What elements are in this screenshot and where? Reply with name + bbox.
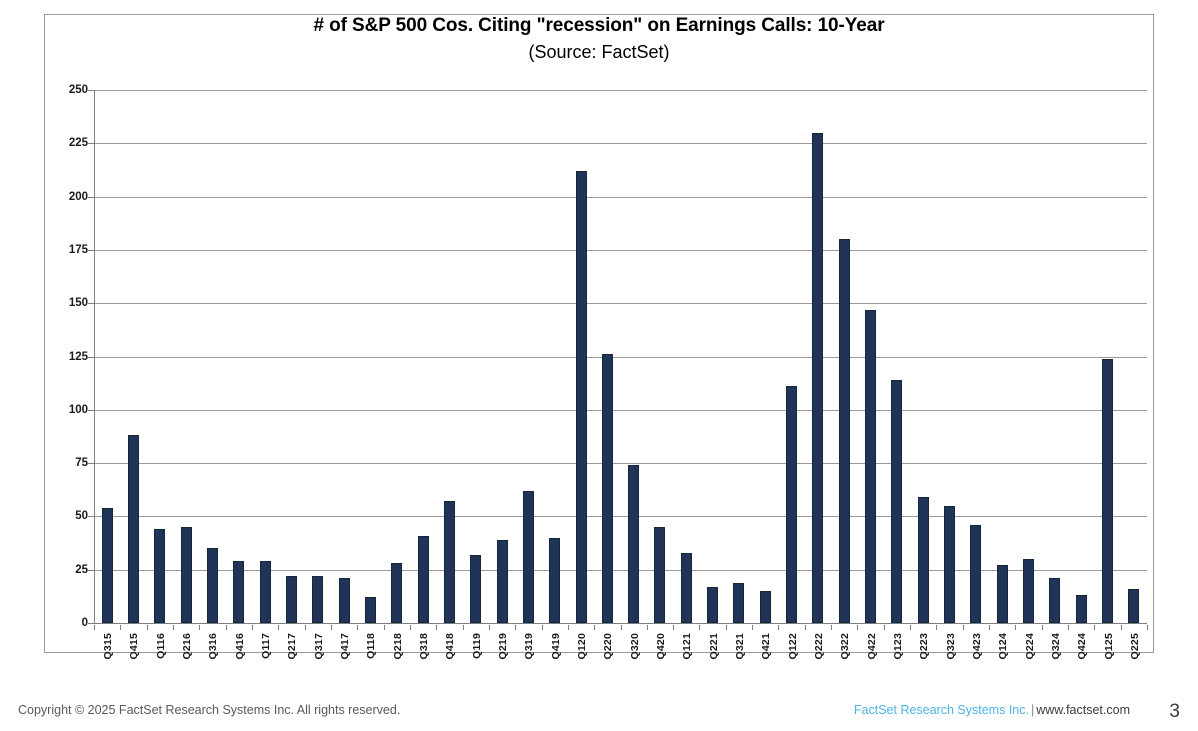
x-axis-tick-label: Q324 xyxy=(1050,633,1062,660)
x-axis-tick-label: Q122 xyxy=(787,633,799,660)
bar xyxy=(891,380,902,623)
bars-layer xyxy=(94,90,1147,623)
x-axis-tick-label: Q218 xyxy=(392,633,404,660)
y-axis-tick-label: 50 xyxy=(42,510,88,522)
y-axis-tick-mark xyxy=(88,463,94,464)
x-axis-tick-mark xyxy=(1015,625,1016,630)
y-axis-tick-mark xyxy=(88,623,94,624)
bar xyxy=(339,578,350,623)
x-axis-tick-label: Q223 xyxy=(918,633,930,660)
y-axis-tick-label: 175 xyxy=(42,244,88,256)
x-axis-tick-mark xyxy=(1068,625,1069,630)
y-axis-tick-label: 100 xyxy=(42,404,88,416)
bar xyxy=(681,553,692,623)
x-axis-tick-label: Q419 xyxy=(550,633,562,660)
x-axis-tick-labels: Q315Q415Q116Q216Q316Q416Q117Q217Q317Q417… xyxy=(94,625,1147,665)
x-axis-tick-mark xyxy=(726,625,727,630)
x-axis-tick-mark xyxy=(647,625,648,630)
bar xyxy=(444,501,455,623)
bar xyxy=(1076,595,1087,623)
bar xyxy=(839,239,850,623)
x-axis-tick-mark xyxy=(1121,625,1122,630)
bar xyxy=(286,576,297,623)
bar xyxy=(497,540,508,623)
bar xyxy=(997,565,1008,623)
bar xyxy=(128,435,139,623)
y-axis-tick-labels: 0255075100125150175200225250 xyxy=(38,90,88,623)
bar xyxy=(154,529,165,623)
y-axis-tick-label: 150 xyxy=(42,297,88,309)
x-axis-tick-label: Q423 xyxy=(971,633,983,660)
footer-attribution: FactSet Research Systems Inc.|www.factse… xyxy=(854,703,1130,717)
x-axis-tick-label: Q418 xyxy=(444,633,456,660)
page-number: 3 xyxy=(1169,701,1180,723)
x-axis-tick-mark xyxy=(621,625,622,630)
x-axis-tick-mark xyxy=(1042,625,1043,630)
x-axis-tick-mark xyxy=(778,625,779,630)
x-axis-tick-label: Q323 xyxy=(945,633,957,660)
x-axis-tick-label: Q222 xyxy=(813,633,825,660)
x-axis-tick-mark xyxy=(120,625,121,630)
x-axis-tick-mark xyxy=(594,625,595,630)
footer-separator: | xyxy=(1031,703,1034,717)
bar xyxy=(523,491,534,623)
bar xyxy=(207,548,218,623)
x-axis-tick-label: Q421 xyxy=(760,633,772,660)
y-axis-tick-label: 125 xyxy=(42,351,88,363)
bar xyxy=(707,587,718,623)
bar xyxy=(760,591,771,623)
x-axis-tick-mark xyxy=(463,625,464,630)
x-axis-tick-label: Q125 xyxy=(1103,633,1115,660)
x-axis-tick-label: Q123 xyxy=(892,633,904,660)
factset-website: www.factset.com xyxy=(1036,703,1130,717)
x-axis-tick-mark xyxy=(199,625,200,630)
x-axis-tick-label: Q415 xyxy=(128,633,140,660)
y-axis-tick-mark xyxy=(88,410,94,411)
x-axis-tick-mark xyxy=(699,625,700,630)
x-axis-tick-mark xyxy=(489,625,490,630)
x-axis-tick-mark xyxy=(963,625,964,630)
bar xyxy=(549,538,560,623)
bar xyxy=(918,497,929,623)
x-axis-tick-label: Q316 xyxy=(207,633,219,660)
y-axis-tick-mark xyxy=(88,143,94,144)
x-axis-tick-label: Q217 xyxy=(286,633,298,660)
x-axis-tick-mark xyxy=(1094,625,1095,630)
y-axis-tick-mark xyxy=(88,303,94,304)
x-axis-tick-mark xyxy=(752,625,753,630)
x-axis-line xyxy=(94,623,1147,624)
x-axis-tick-label: Q220 xyxy=(602,633,614,660)
factset-link[interactable]: FactSet Research Systems Inc. xyxy=(854,703,1029,717)
x-axis-tick-mark xyxy=(936,625,937,630)
x-axis-tick-label: Q315 xyxy=(102,633,114,660)
x-axis-tick-mark xyxy=(831,625,832,630)
x-axis-tick-mark xyxy=(568,625,569,630)
y-axis-tick-label: 75 xyxy=(42,457,88,469)
bar xyxy=(1049,578,1060,623)
bar xyxy=(576,171,587,623)
x-axis-tick-label: Q317 xyxy=(313,633,325,660)
bar xyxy=(733,583,744,624)
x-axis-tick-label: Q216 xyxy=(181,633,193,660)
x-axis-tick-mark xyxy=(436,625,437,630)
x-axis-tick-label: Q422 xyxy=(866,633,878,660)
x-axis-tick-mark xyxy=(542,625,543,630)
x-axis-tick-mark xyxy=(1147,625,1148,630)
x-axis-tick-label: Q224 xyxy=(1024,633,1036,660)
y-axis-tick-label: 250 xyxy=(42,84,88,96)
bar xyxy=(1128,589,1139,623)
x-axis-tick-label: Q420 xyxy=(655,633,667,660)
bar xyxy=(391,563,402,623)
footer-copyright: Copyright © 2025 FactSet Research System… xyxy=(18,703,400,717)
x-axis-tick-label: Q416 xyxy=(234,633,246,660)
x-axis-tick-label: Q121 xyxy=(681,633,693,660)
x-axis-tick-label: Q119 xyxy=(471,633,483,659)
bar xyxy=(812,133,823,623)
x-axis-tick-label: Q321 xyxy=(734,633,746,660)
bar xyxy=(970,525,981,623)
bar xyxy=(260,561,271,623)
bar xyxy=(233,561,244,623)
y-axis-tick-mark xyxy=(88,570,94,571)
y-axis-tick-mark xyxy=(88,250,94,251)
bar xyxy=(365,597,376,623)
y-axis-tick-mark xyxy=(88,516,94,517)
bar xyxy=(865,310,876,623)
x-axis-tick-mark xyxy=(305,625,306,630)
bar xyxy=(786,386,797,623)
bar xyxy=(1102,359,1113,623)
x-axis-tick-label: Q118 xyxy=(365,633,377,659)
x-axis-tick-mark xyxy=(884,625,885,630)
bar xyxy=(944,506,955,623)
slide-canvas: # of S&P 500 Cos. Citing "recession" on … xyxy=(0,0,1198,731)
x-axis-tick-label: Q424 xyxy=(1076,633,1088,660)
y-axis-tick-mark xyxy=(88,357,94,358)
x-axis-tick-label: Q225 xyxy=(1129,633,1141,660)
x-axis-tick-label: Q320 xyxy=(629,633,641,660)
x-axis-tick-mark xyxy=(226,625,227,630)
bar xyxy=(181,527,192,623)
x-axis-tick-mark xyxy=(384,625,385,630)
y-axis-tick-mark xyxy=(88,90,94,91)
x-axis-tick-mark xyxy=(94,625,95,630)
bar xyxy=(628,465,639,623)
x-axis-tick-mark xyxy=(147,625,148,630)
x-axis-tick-label: Q124 xyxy=(997,633,1009,660)
footer-divider xyxy=(0,686,1198,687)
x-axis-tick-mark xyxy=(357,625,358,630)
bar xyxy=(102,508,113,623)
x-axis-tick-label: Q116 xyxy=(155,633,167,659)
y-axis-tick-label: 225 xyxy=(42,137,88,149)
x-axis-tick-mark xyxy=(278,625,279,630)
x-axis-tick-mark xyxy=(910,625,911,630)
x-axis-tick-mark xyxy=(805,625,806,630)
x-axis-tick-mark xyxy=(410,625,411,630)
y-axis-tick-label: 0 xyxy=(42,617,88,629)
bar xyxy=(654,527,665,623)
x-axis-tick-mark xyxy=(173,625,174,630)
bar xyxy=(312,576,323,623)
x-axis-tick-label: Q221 xyxy=(708,633,720,660)
x-axis-tick-label: Q417 xyxy=(339,633,351,660)
bar xyxy=(418,536,429,623)
y-axis-tick-label: 25 xyxy=(42,564,88,576)
x-axis-tick-label: Q322 xyxy=(839,633,851,660)
x-axis-tick-mark xyxy=(515,625,516,630)
x-axis-tick-label: Q219 xyxy=(497,633,509,660)
x-axis-tick-mark xyxy=(989,625,990,630)
x-axis-tick-mark xyxy=(252,625,253,630)
y-axis-tick-label: 200 xyxy=(42,191,88,203)
x-axis-tick-mark xyxy=(857,625,858,630)
x-axis-tick-label: Q120 xyxy=(576,633,588,660)
y-axis-tick-mark xyxy=(88,197,94,198)
bar xyxy=(470,555,481,623)
x-axis-tick-label: Q318 xyxy=(418,633,430,660)
bar xyxy=(1023,559,1034,623)
x-axis-tick-label: Q117 xyxy=(260,633,272,659)
x-axis-tick-label: Q319 xyxy=(523,633,535,660)
x-axis-tick-mark xyxy=(673,625,674,630)
bar xyxy=(602,354,613,623)
x-axis-tick-mark xyxy=(331,625,332,630)
